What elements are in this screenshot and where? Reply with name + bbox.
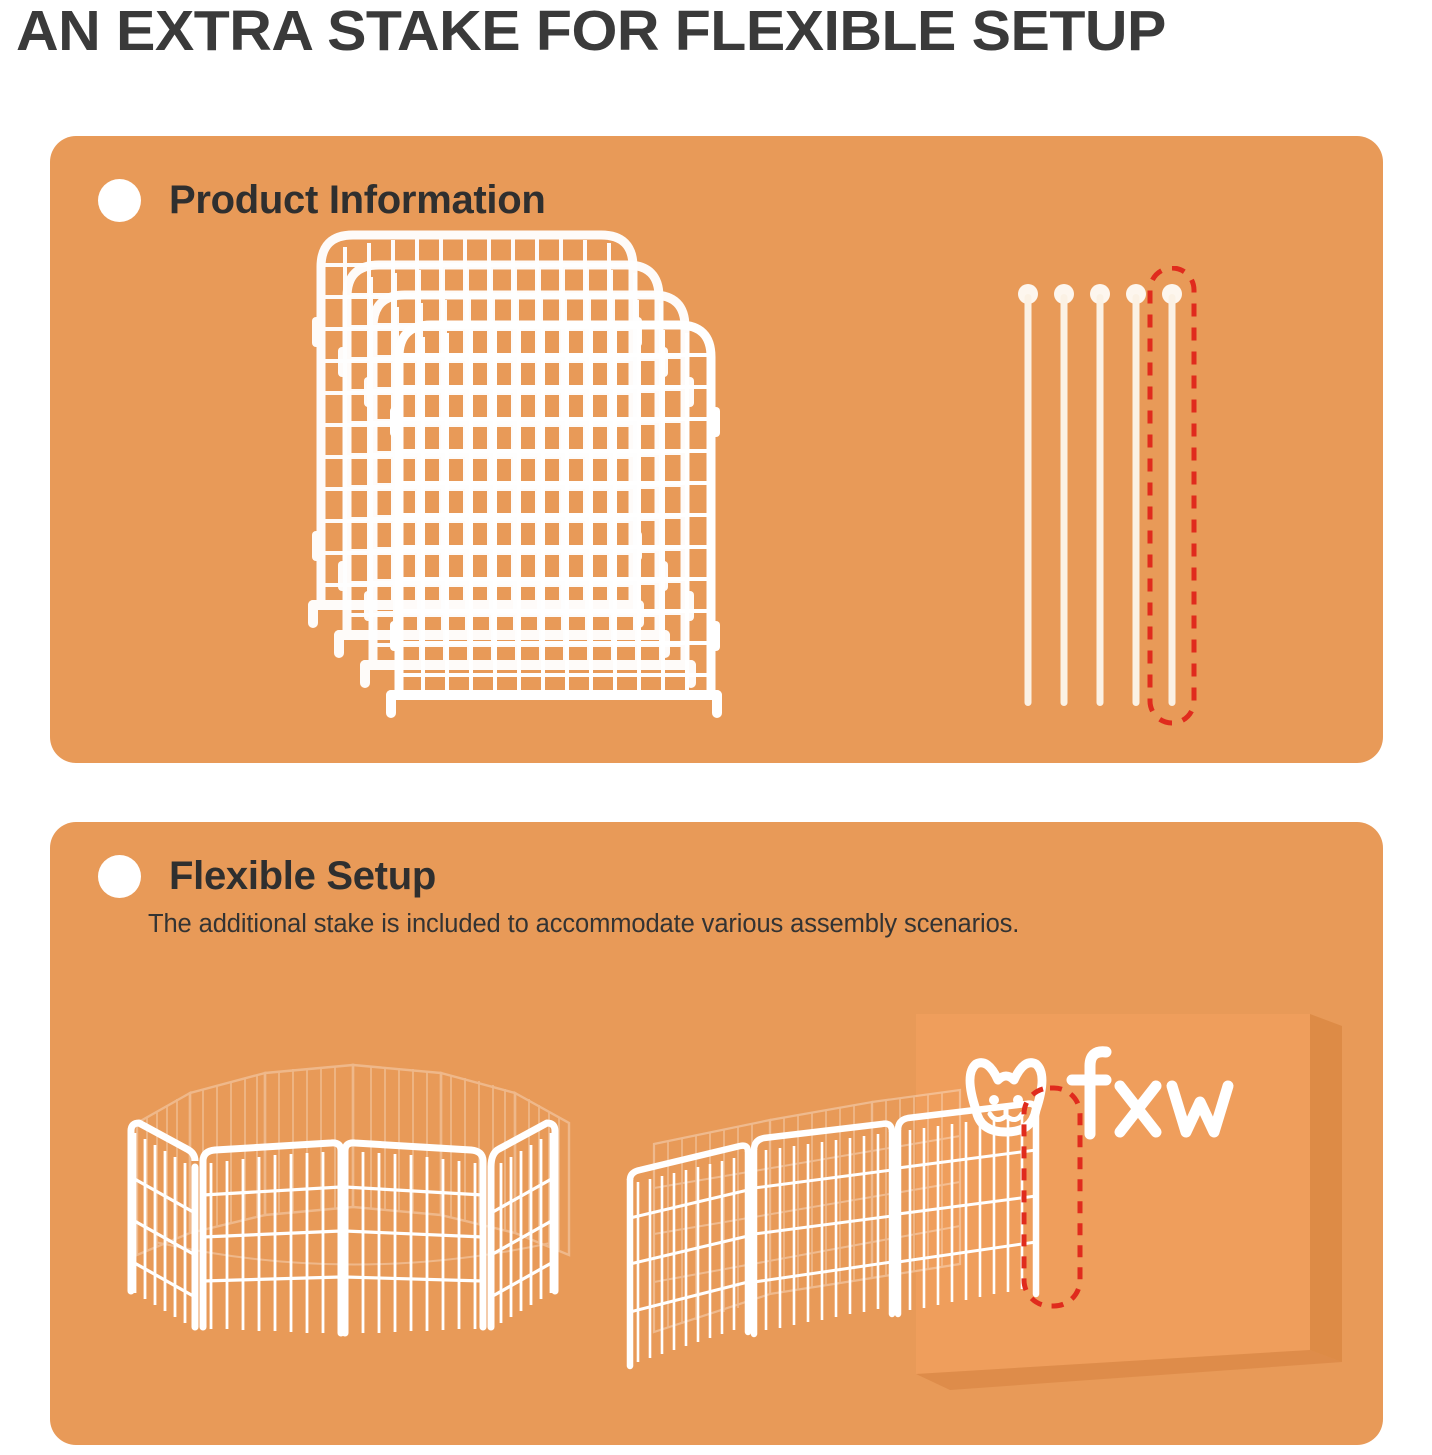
flexible-setup-subtitle: The additional stake is included to acco… [148,910,1019,939]
product-information-panel: Product Information [50,136,1383,763]
pen-panel-front-mid-right [345,1143,483,1333]
stake-4 [1126,284,1146,706]
bullet-dot-icon [98,855,141,898]
stake-1 [1018,284,1038,706]
stake-2 [1054,284,1074,706]
flexible-setup-heading-row: Flexible Setup [98,854,436,899]
flexible-setup-panel: Flexible Setup The additional stake is i… [50,822,1383,1445]
stake-3 [1090,284,1110,706]
bullet-dot-icon [98,179,141,222]
product-information-heading-row: Product Information [98,178,546,223]
section-title-product-information: Product Information [169,178,546,223]
stake-5-highlighted [1162,284,1182,706]
fence-panel-a [630,1146,748,1366]
pen-panel-front-right [491,1123,555,1327]
page-title: AN EXTRA STAKE FOR FLEXIBLE SETUP [16,0,1432,62]
section-title-flexible-setup: Flexible Setup [169,854,436,899]
stacked-wire-panels-illustration [305,221,725,741]
octagon-playpen-illustration [95,1037,615,1397]
ground-stakes-illustration [960,266,1200,726]
pen-panel-front-left [131,1123,195,1327]
wall-mounted-fence-illustration [620,1002,1380,1402]
